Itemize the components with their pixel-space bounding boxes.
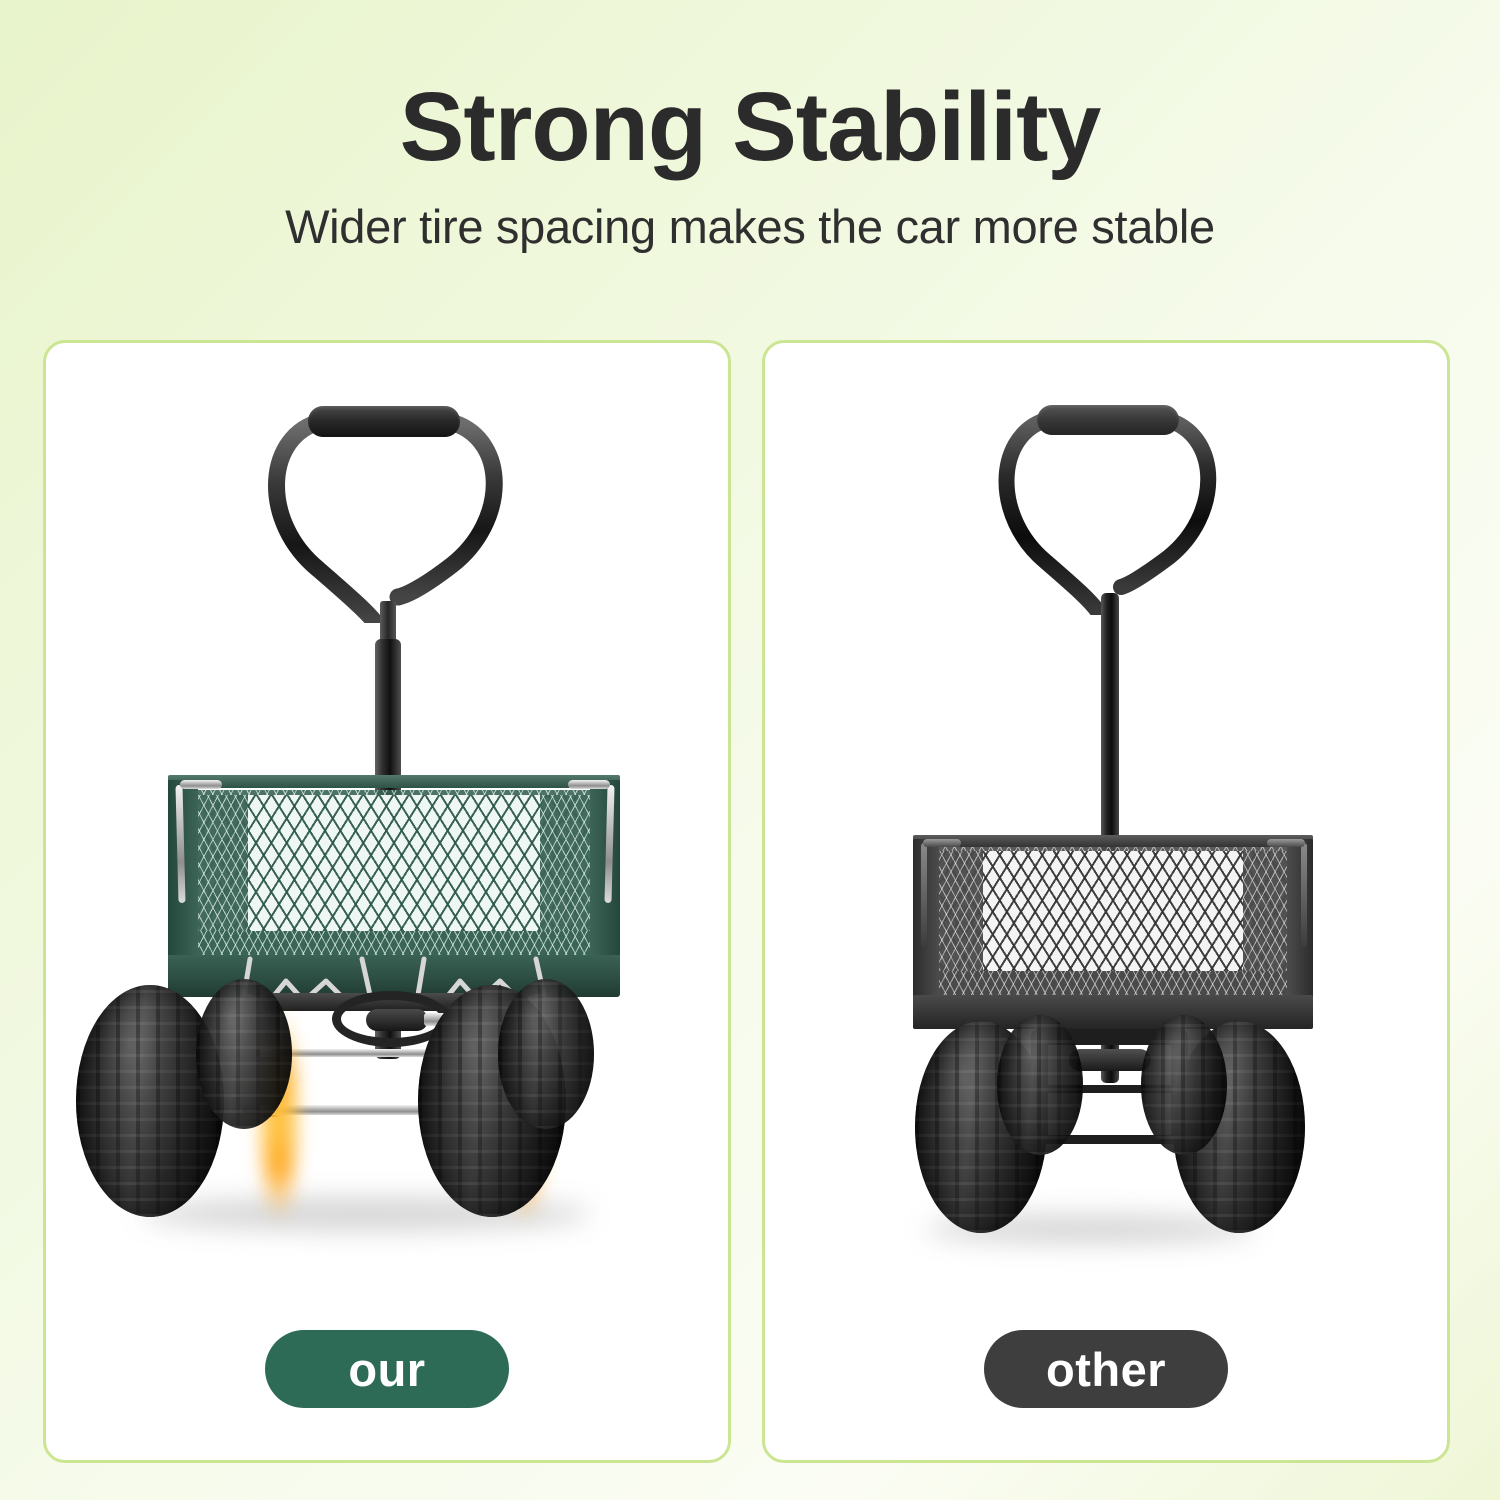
badge-our: our [265, 1330, 509, 1408]
cart-mesh-front-panel-other [937, 851, 1289, 983]
badge-other-label: other [1046, 1342, 1166, 1397]
hinge-bolt-right-other [1267, 839, 1305, 847]
tire-rear-left-other [997, 1015, 1083, 1155]
comparison-card-our: our [43, 340, 731, 1463]
tire-shading-rear-right [498, 979, 594, 1129]
header: Strong Stability Wider tire spacing make… [0, 0, 1500, 320]
tire-rear-right-other [1141, 1015, 1227, 1155]
cart-mesh-side-left [196, 795, 248, 945]
cart-mesh-side-right [540, 795, 592, 945]
hinge-rod-left-other [921, 843, 927, 947]
handle-grip [308, 406, 460, 437]
badge-our-label: our [348, 1342, 425, 1397]
turntable-clamp [366, 1009, 428, 1031]
cart-mesh-side-left-other [937, 851, 983, 983]
hinge-bolt-left [180, 780, 222, 789]
tire-rear-right [498, 979, 594, 1129]
cart-bed-top-rail [168, 775, 620, 788]
cart-bed-floor-other [937, 971, 1289, 995]
tire-shading-rear-left [196, 979, 292, 1129]
cart-bed-floor [196, 931, 592, 957]
tire-shading-rear-left-other [997, 1015, 1083, 1155]
badge-other: other [984, 1330, 1228, 1408]
product-image-other [765, 343, 1447, 1460]
infographic-page: Strong Stability Wider tire spacing make… [0, 0, 1500, 1500]
product-image-our [46, 343, 728, 1460]
page-title: Strong Stability [0, 78, 1500, 177]
tire-rear-left [196, 979, 292, 1129]
tire-shading-rear-right-other [1141, 1015, 1227, 1155]
comparison-card-other: other [762, 340, 1450, 1463]
hinge-bolt-right [568, 780, 610, 789]
cart-wall-right-other [1287, 839, 1313, 1001]
handle-grip-other [1037, 405, 1179, 435]
cart-mesh-side-right-other [1243, 851, 1289, 983]
hinge-bolt-left-other [923, 839, 961, 847]
hinge-rod-right-other [1301, 843, 1307, 947]
cart-bed-top-rail-other [913, 835, 1313, 847]
page-subtitle: Wider tire spacing makes the car more st… [0, 199, 1500, 254]
cart-mesh-front-panel [196, 795, 592, 945]
